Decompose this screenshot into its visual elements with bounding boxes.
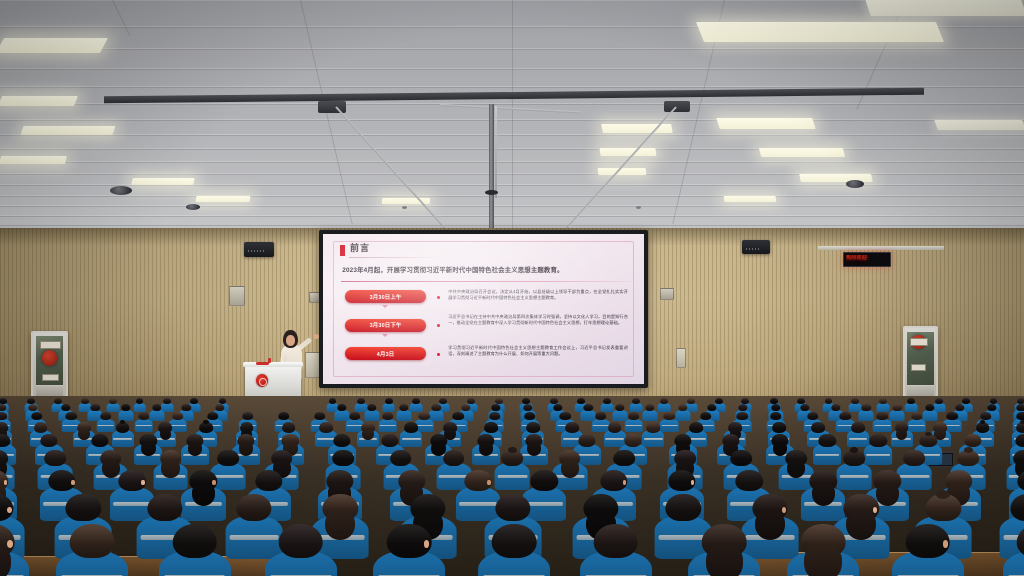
- audience-ear: [212, 480, 216, 485]
- audience-head: [219, 398, 227, 404]
- audience-uniform: [400, 430, 422, 447]
- audience-head: [1017, 412, 1024, 420]
- audience-member: [98, 412, 114, 432]
- audience-member: [658, 398, 669, 412]
- audience-uniform: [877, 403, 890, 413]
- podium: [245, 366, 301, 400]
- audience-hair: [706, 545, 743, 576]
- audience-member: [1008, 524, 1024, 576]
- ceiling-sprinkler-icon: [402, 206, 407, 209]
- audience-head: [100, 412, 112, 420]
- audience-head: [44, 450, 66, 466]
- led-marquee-text: 热烈欢迎: [846, 255, 888, 264]
- audience-uniform: [642, 430, 664, 447]
- audience-uniform: [660, 419, 679, 433]
- audience-member: [839, 450, 869, 489]
- ceiling-rigging-wire: [495, 106, 497, 198]
- audience-head: [357, 398, 365, 404]
- audience-head: [381, 434, 398, 447]
- audience-member: [613, 404, 626, 421]
- audience-member: [631, 398, 642, 412]
- audience-head: [741, 398, 749, 404]
- ceiling-sprinkler-icon: [636, 206, 641, 209]
- audience-head: [412, 398, 420, 404]
- audience-head: [550, 398, 558, 404]
- presentation-screen[interactable]: 前言 2023年4月起，开展学习贯彻习近平新时代中国特色社会主义思想主题教育。 …: [319, 230, 648, 388]
- audience-head: [578, 434, 595, 447]
- uniform-reflective-stripe: [497, 475, 527, 478]
- ceiling-light-panel: [724, 196, 777, 202]
- audience-member: [878, 398, 889, 412]
- audience-ear: [71, 480, 75, 485]
- audience-head: [819, 434, 836, 447]
- audience-head: [603, 398, 611, 404]
- audience-head: [329, 398, 337, 404]
- audience-member: [183, 434, 207, 465]
- led-marquee-sign: 热烈欢迎: [843, 252, 891, 267]
- uniform-reflective-stripe: [866, 454, 890, 457]
- audience-head: [172, 524, 217, 558]
- audience-ear: [141, 480, 145, 485]
- audience-head: [646, 422, 660, 433]
- audience-head: [625, 434, 642, 447]
- audience-head: [700, 412, 712, 420]
- audience-member: [136, 412, 152, 432]
- audience-member: [474, 434, 498, 465]
- audience-head: [566, 422, 580, 433]
- audience-member: [676, 404, 689, 421]
- audience-head: [207, 412, 219, 420]
- audience-head: [319, 422, 333, 433]
- ceiling-light-panel: [759, 148, 845, 157]
- audience-uniform: [814, 444, 842, 465]
- audience-head: [236, 494, 271, 521]
- audience-member: [365, 404, 378, 421]
- audience-head: [333, 434, 350, 447]
- ceiling-light-panel: [599, 148, 656, 156]
- podium-surface: [243, 362, 302, 367]
- audience-hair: [362, 429, 373, 441]
- audience-member: [792, 524, 854, 576]
- audience-member: [602, 398, 613, 412]
- audience-member: [150, 404, 163, 421]
- slide-date-badge: 3月30日下午: [345, 319, 425, 332]
- audience-head: [27, 398, 35, 404]
- audience-head: [1017, 398, 1024, 404]
- fire-equipment-cabinet-left[interactable]: [31, 331, 68, 401]
- audience-head: [65, 412, 77, 420]
- audience-head: [907, 398, 915, 404]
- audience-member: [402, 422, 421, 447]
- audience-hair: [812, 483, 835, 506]
- chevron-down-icon: [382, 305, 388, 308]
- audience-member: [0, 524, 24, 576]
- audience-head: [689, 422, 703, 433]
- pole-bracket: [485, 190, 498, 195]
- audience-member: [119, 404, 132, 421]
- audience-member: [892, 422, 911, 447]
- slide-item-text: 习近平总书记在主持中共中央政治局第四次集体学习时强调，坚持以文化人学习，目的是知…: [448, 314, 628, 326]
- audience-head: [946, 412, 958, 420]
- audience-head: [467, 398, 475, 404]
- wall-speaker-icon: [244, 242, 274, 257]
- ceiling-light-panel: [0, 38, 108, 53]
- school-emblem-icon: [256, 374, 268, 387]
- slide-headline: 2023年4月起，开展学习贯彻习近平新时代中国特色社会主义思想主题教育。: [342, 266, 631, 275]
- audience-member: [61, 524, 123, 576]
- audience-member: [397, 404, 410, 421]
- lecture-hall-photo: 热烈欢迎 前言 2023年4月起，开展学习贯彻习近平新时代中国特色社会主义思想主…: [0, 0, 1024, 576]
- audience-head: [1017, 404, 1024, 411]
- ceiling-light-panel: [0, 156, 67, 164]
- audience-head: [531, 470, 558, 491]
- audience-head: [736, 470, 763, 491]
- audience-head: [613, 450, 635, 466]
- audience-head: [870, 434, 887, 447]
- audience-head: [136, 398, 144, 404]
- uniform-reflective-stripe: [644, 438, 663, 440]
- slide-date-badge: 4月3日: [345, 347, 425, 360]
- audience-head: [0, 412, 7, 420]
- audience-uniform: [859, 410, 874, 422]
- audience-member: [906, 398, 917, 412]
- ceiling-speaker-icon: [110, 186, 132, 195]
- fire-cabinet-label: [910, 338, 928, 346]
- audience-uniform: [642, 410, 657, 422]
- audience-head: [70, 524, 115, 558]
- audience-member: [644, 422, 663, 447]
- audience-head: [980, 412, 992, 420]
- audience-hair: [936, 490, 950, 499]
- audience-head: [797, 398, 805, 404]
- audience-head: [527, 422, 541, 433]
- slide-title-accent-bar: [340, 245, 346, 256]
- audience-head: [452, 412, 464, 420]
- audience-uniform: [364, 410, 379, 422]
- uniform-reflective-stripe: [815, 454, 839, 457]
- audience-ear: [943, 540, 949, 547]
- audience-ear: [424, 540, 430, 547]
- audience-uniform: [396, 410, 411, 422]
- ceiling-light-panel: [696, 22, 944, 42]
- audience-head: [282, 422, 296, 433]
- ceiling-light-panel: [131, 178, 194, 185]
- audience-head: [278, 412, 290, 420]
- audience-member: [411, 398, 422, 412]
- ceiling-light-panel: [0, 96, 78, 106]
- wall-junction-box: [676, 348, 686, 368]
- audience-head: [242, 412, 254, 420]
- audience-head: [524, 412, 536, 420]
- audience-head: [218, 450, 240, 466]
- audience-member: [626, 412, 642, 432]
- audience-head: [522, 398, 530, 404]
- audience-head: [404, 422, 418, 433]
- audience-head: [54, 398, 62, 404]
- audience-head: [382, 412, 394, 420]
- audience-uniform: [410, 403, 423, 413]
- audience-member: [156, 450, 186, 489]
- audience-head: [666, 494, 701, 521]
- ceiling-light-panel: [716, 118, 816, 129]
- audience-member: [848, 422, 867, 447]
- audience-hair: [561, 460, 579, 478]
- fire-equipment-cabinet-right[interactable]: [903, 326, 938, 402]
- audience-head: [439, 398, 447, 404]
- audience-member: [874, 412, 890, 432]
- uniform-reflective-stripe: [626, 425, 642, 427]
- audience-head: [495, 494, 530, 521]
- audience-head: [332, 450, 354, 466]
- slide-date-badge: 3月30日上午: [345, 290, 425, 303]
- audience-head: [664, 412, 676, 420]
- audience-member: [693, 524, 755, 576]
- audience-hair: [160, 429, 171, 441]
- audience-head: [595, 412, 607, 420]
- uniform-reflective-stripe: [874, 425, 890, 427]
- fire-cabinet-sublabel: [42, 374, 59, 381]
- audience-head: [66, 494, 101, 521]
- slide-item-text: 中共中央政治局召开会议，决定从4月开始，以县处级以上领导干部为重点，在全党扎扎实…: [448, 289, 628, 301]
- audience-hair: [964, 447, 973, 453]
- audience-member: [164, 524, 226, 576]
- audience-head: [936, 398, 944, 404]
- audience-head: [688, 398, 696, 404]
- audience-hair: [161, 460, 179, 478]
- audience-head: [559, 412, 571, 420]
- audience-member: [358, 422, 377, 447]
- audience-head: [492, 524, 537, 558]
- audience-member: [184, 470, 222, 520]
- audience-member: [378, 524, 440, 576]
- audience-head: [812, 422, 826, 433]
- audience-member: [661, 412, 677, 432]
- ceiling-light-panel: [598, 168, 647, 175]
- audience-member: [497, 450, 527, 489]
- audience-head: [628, 412, 640, 420]
- audience-ear: [623, 480, 627, 485]
- ceiling-truss-beam: [664, 101, 690, 112]
- audience-member: [108, 398, 119, 412]
- audience-head: [485, 422, 499, 433]
- uniform-reflective-stripe: [402, 438, 421, 440]
- audience-member: [909, 412, 925, 432]
- audience-member: [585, 524, 647, 576]
- audience-member: [113, 422, 132, 447]
- audience-uniform: [630, 403, 643, 413]
- audience-head: [34, 422, 48, 433]
- audience-ear: [782, 507, 787, 513]
- led-sign-rail: [818, 246, 944, 250]
- audience-head: [40, 434, 57, 447]
- audience-member: [380, 412, 396, 432]
- audience-head: [770, 398, 778, 404]
- audience-member: [860, 404, 873, 421]
- ceiling-light-panel: [196, 196, 251, 202]
- audience-head: [91, 434, 108, 447]
- audience-head: [736, 412, 748, 420]
- audience-head: [255, 470, 282, 491]
- audience-hair: [1020, 420, 1024, 424]
- audience-uniform: [675, 410, 690, 422]
- audience-ear: [691, 480, 695, 485]
- audience-head: [608, 422, 622, 433]
- audience-head: [593, 524, 638, 558]
- wall-control-panel[interactable]: [660, 288, 674, 300]
- audience-head: [577, 398, 585, 404]
- audience-head: [840, 412, 852, 420]
- audience-head: [1016, 434, 1024, 447]
- audience-ear: [7, 540, 13, 547]
- audience-head: [138, 412, 150, 420]
- audience-member: [483, 524, 545, 576]
- audience-head: [314, 412, 326, 420]
- audience-head: [660, 398, 668, 404]
- audience-uniform: [134, 419, 153, 433]
- uniform-reflective-stripe: [136, 425, 152, 427]
- slide-title-rule: [349, 257, 445, 258]
- microphone-icon: [268, 358, 271, 363]
- audience-head: [772, 422, 786, 433]
- uniform-reflective-stripe: [909, 425, 925, 427]
- audience-member: [383, 398, 394, 412]
- audience-head: [489, 412, 501, 420]
- audience-head: [962, 398, 970, 404]
- audience-head: [851, 422, 865, 433]
- audience-head: [109, 398, 117, 404]
- wall-speaker-icon: [742, 240, 770, 254]
- audience-ear: [7, 507, 12, 513]
- fire-cabinet-sublabel: [911, 364, 925, 371]
- audience-head: [903, 450, 925, 466]
- uniform-reflective-stripe: [848, 438, 867, 440]
- audience-member: [923, 404, 936, 421]
- audience-member: [897, 524, 959, 576]
- uniform-reflective-stripe: [380, 425, 396, 427]
- uniform-reflective-stripe: [839, 475, 869, 478]
- audience-head: [964, 434, 981, 447]
- audience-head: [730, 450, 752, 466]
- microphone-icon: [256, 362, 269, 365]
- audience-hair: [192, 483, 215, 506]
- audience-hair: [508, 447, 517, 453]
- uniform-reflective-stripe: [661, 425, 677, 427]
- audience-head: [851, 398, 859, 404]
- audience-ear: [4, 480, 8, 485]
- audience-head: [877, 412, 889, 420]
- audience-uniform: [601, 403, 614, 413]
- audience-head: [0, 398, 7, 404]
- audience-head: [81, 398, 89, 404]
- uniform-reflective-stripe: [98, 425, 114, 427]
- audience-uniform: [382, 403, 395, 413]
- audience-uniform: [890, 410, 905, 422]
- ceiling-light-panel: [601, 124, 673, 133]
- audience-uniform: [133, 403, 146, 413]
- audience-hair: [141, 442, 156, 456]
- audience-head: [278, 524, 323, 558]
- audience-ear: [487, 480, 491, 485]
- audience-uniform: [625, 419, 644, 433]
- ceiling-speaker-icon: [846, 180, 864, 188]
- audience-member: [134, 398, 145, 412]
- audience-head: [990, 398, 998, 404]
- audience-head: [31, 412, 43, 420]
- audience-head: [147, 494, 182, 521]
- slide-bullet-dot: [437, 324, 440, 327]
- chevron-down-icon: [382, 334, 388, 337]
- fire-cabinet-label: [40, 341, 60, 349]
- audience-head: [349, 412, 361, 420]
- audience-hair: [755, 511, 785, 540]
- audience-uniform: [657, 403, 670, 413]
- audience-head: [632, 398, 640, 404]
- fire-hose-reel-icon: [42, 350, 58, 366]
- audience-member: [643, 404, 656, 421]
- ceiling-light-panel: [934, 120, 1024, 130]
- audience-head: [825, 398, 833, 404]
- audience-hair: [203, 420, 208, 424]
- audience-hair: [980, 420, 985, 424]
- audience-head: [191, 398, 199, 404]
- audience-head: [770, 412, 782, 420]
- ceiling-speaker-icon: [186, 204, 200, 210]
- ceiling-light-panel: [21, 126, 116, 135]
- audience-head: [495, 398, 503, 404]
- audience-member: [866, 434, 890, 465]
- audience-uniform: [873, 419, 892, 433]
- ceiling: [0, 0, 1024, 240]
- slide-section-title: 前言: [350, 243, 370, 253]
- audience-head: [385, 398, 393, 404]
- slide-item-text: 学习贯彻习近平新时代中国特色社会主义思想主题教育工作会议上，习近平总书记发表重要…: [448, 345, 628, 357]
- audience-member: [815, 434, 839, 465]
- audience-head: [715, 398, 723, 404]
- audience-member: [891, 404, 904, 421]
- audience-head: [911, 412, 923, 420]
- ceiling-light-panel: [865, 0, 1024, 16]
- audience-uniform: [379, 419, 398, 433]
- audience-head: [172, 412, 184, 420]
- audience-head: [390, 450, 412, 466]
- wall-control-panel[interactable]: [229, 286, 245, 306]
- audience-head: [879, 398, 887, 404]
- audience-head: [807, 412, 819, 420]
- slide-bullet-dot: [437, 296, 440, 299]
- slide-bullet-dot: [437, 353, 440, 356]
- audience-head: [443, 450, 465, 466]
- audience-hair: [804, 545, 841, 576]
- presenter-hand: [313, 334, 319, 339]
- slide-surface: 前言 2023年4月起，开展学习贯彻习近平新时代中国特色社会主义思想主题教育。 …: [323, 234, 644, 384]
- audience-uniform: [905, 403, 918, 413]
- audience-uniform: [112, 430, 134, 447]
- uniform-reflective-stripe: [113, 438, 132, 440]
- audience-head: [419, 412, 431, 420]
- slide-headline-rule: [341, 281, 632, 282]
- audience-head: [163, 398, 171, 404]
- presenter-face: [286, 335, 295, 346]
- audience-member: [270, 524, 332, 576]
